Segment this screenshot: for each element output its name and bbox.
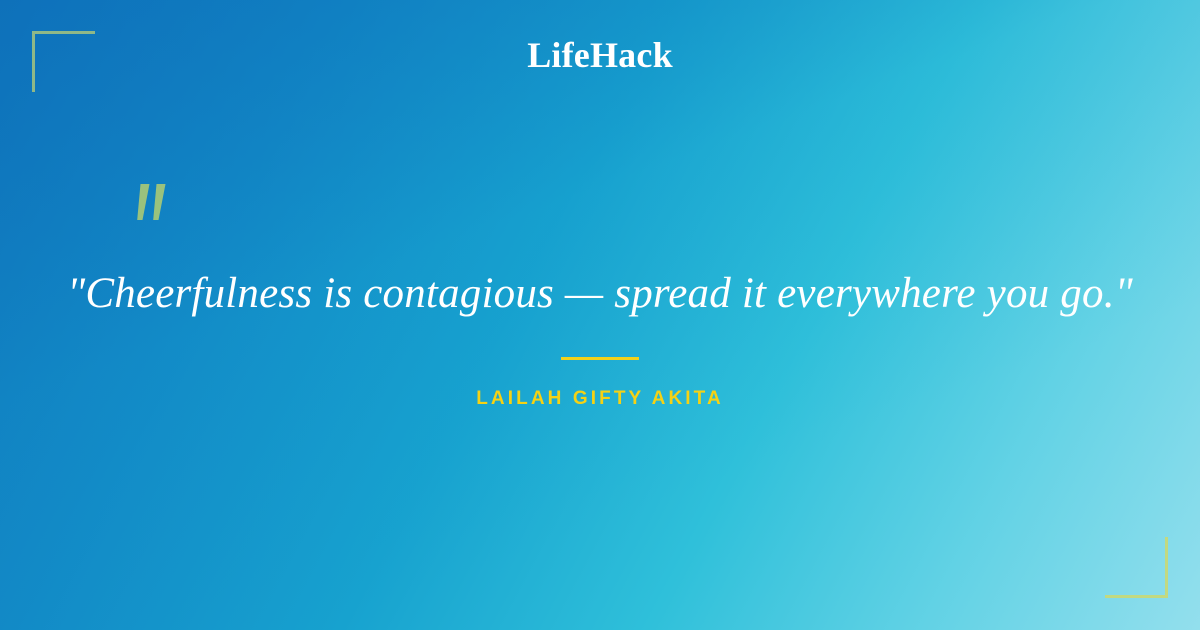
quote-author: LAILAH GIFTY AKITA	[0, 388, 1200, 410]
double-quote-icon	[126, 180, 180, 236]
corner-bracket-bottom-right	[1105, 537, 1168, 598]
author-divider	[561, 357, 639, 360]
brand-logo: LifeHack	[0, 37, 1200, 73]
quote-text: "Cheerfulness is contagious — spread it …	[0, 268, 1200, 320]
quote-card: LifeHack "Cheerfulness is contagious — s…	[0, 0, 1200, 630]
